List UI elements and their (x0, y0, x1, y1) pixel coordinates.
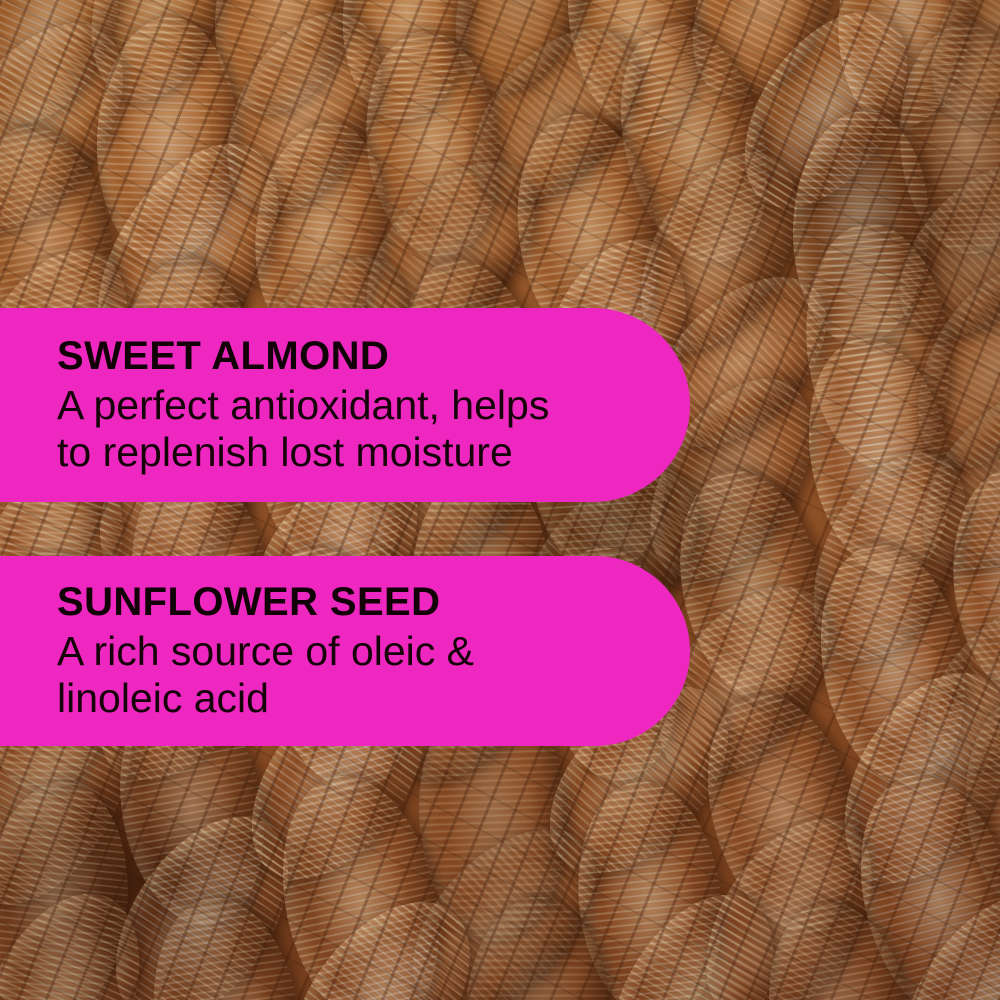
callout-title-sweet-almond: SWEET ALMOND (57, 334, 690, 378)
callout-sweet-almond: SWEET ALMOND A perfect antioxidant, help… (0, 308, 690, 502)
callout-body-sweet-almond: A perfect antioxidant, helps to replenis… (57, 382, 690, 476)
callout-body-sunflower-seed: A rich source of oleic & linoleic acid (57, 628, 690, 722)
almond-nut (465, 897, 611, 1000)
callout-title-sunflower-seed: SUNFLOWER SEED (57, 580, 690, 624)
product-benefit-graphic: SWEET ALMOND A perfect antioxidant, help… (0, 0, 1000, 1000)
callout-sunflower-seed: SUNFLOWER SEED A rich source of oleic & … (0, 556, 690, 746)
